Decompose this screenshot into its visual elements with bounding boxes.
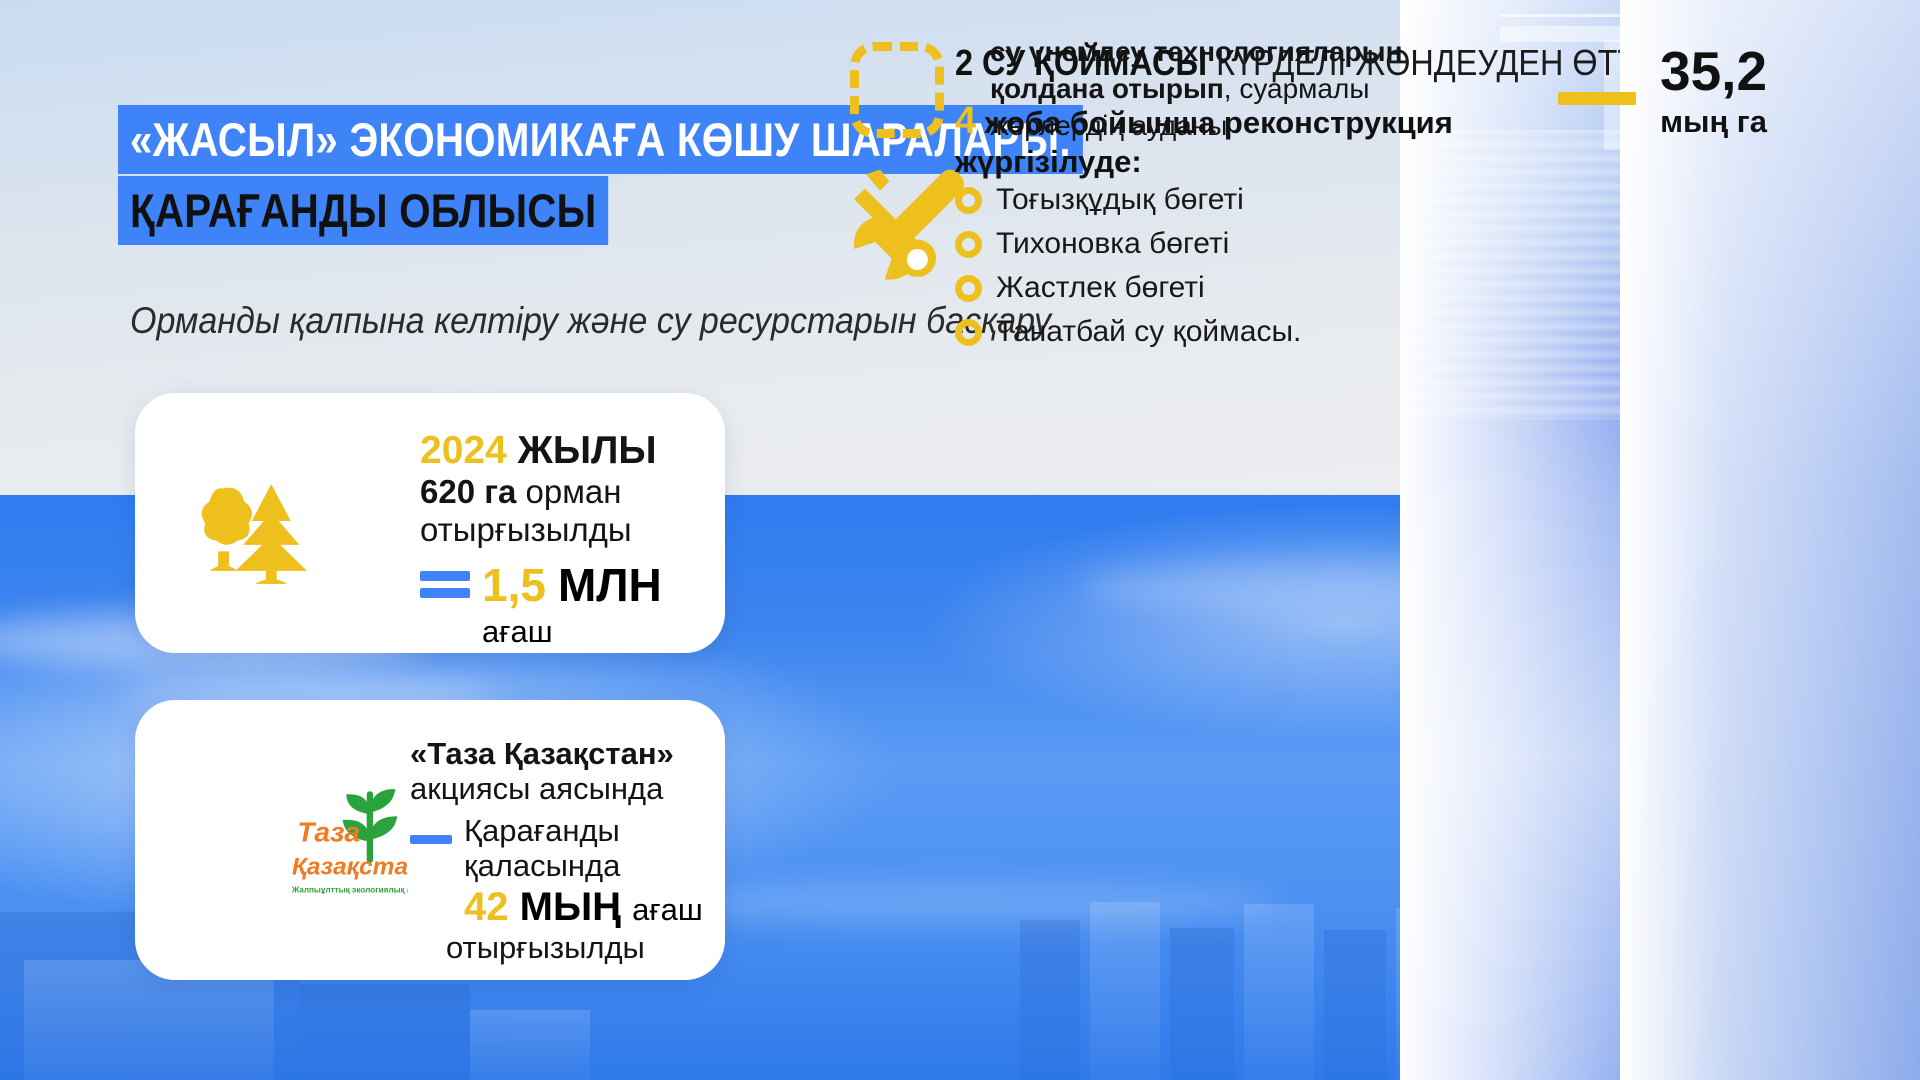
trees-icon (180, 469, 330, 604)
equals-icon (420, 564, 470, 605)
reservoir-subhead-text-2: жүргізілуде: (955, 144, 1026, 179)
taza-planted-label: отырғызылды (446, 930, 720, 965)
forest-area: 620 га (420, 473, 516, 510)
infographic-canvas: «ЖАСЫЛ» ЭКОНОМИКАҒА КӨШУ ШАРАЛАРЫ, ҚАРАҒ… (0, 0, 1920, 1080)
blue-dash-icon (410, 835, 452, 844)
list-item: Тихоновка бөгеті (955, 222, 1026, 266)
bullet-ring-icon (955, 187, 982, 214)
taza-count: 42 (464, 885, 509, 929)
bullet-ring-icon (955, 275, 982, 302)
taza-logo-caption: Жалпыұлттық экологиялық акция (291, 885, 408, 894)
list-item: Жастлек бөгеті (955, 266, 1026, 310)
bullet-ring-icon (955, 231, 982, 258)
reservoir-item-label: Танатбай су қоймасы. (996, 315, 1026, 349)
taza-city-line-2: қаласында (464, 848, 620, 883)
taza-logo-title-1: Таза (297, 817, 360, 848)
taza-logo-title-2: Қазақстан (292, 853, 408, 880)
forest-card-text: 2024 ЖЫЛЫ 620 га орман отырғызылды 1,5 М… (420, 429, 710, 650)
taza-count-unit: МЫҢ (520, 885, 621, 929)
list-item: Тоғызқұдық бөгеті (955, 178, 1026, 222)
forest-year-suffix: ЖЫЛЫ (518, 429, 657, 472)
reservoir-list: Тоғызқұдық бөгеті Тихоновка бөгеті Жастл… (955, 178, 1026, 354)
reservoir-item-label: Тоғызқұдық бөгеті (996, 183, 1026, 217)
reservoir-item-label: Тихоновка бөгеті (996, 227, 1026, 261)
card-taza-qazaqstan: Таза Қазақстан Жалпыұлттық экологиялық а… (135, 700, 725, 980)
taza-line-1: «Таза Қазақстан» (410, 736, 720, 771)
reservoir-project-count: 4 (955, 100, 976, 142)
taza-count-object: ағаш (632, 892, 703, 927)
forest-count-object: ағаш (482, 614, 710, 650)
taza-city-line-1: Қарағанды (464, 813, 620, 848)
reservoir-item-label: Жастлек бөгеті (996, 271, 1026, 305)
forest-count: 1,5 (482, 558, 546, 612)
bullet-ring-icon (955, 319, 982, 346)
page-title-line-2: ҚАРАҒАНДЫ ОБЛЫСЫ (118, 176, 608, 245)
page-subtitle: Орманды қалпына келтіру және су ресурста… (130, 300, 1051, 342)
forest-count-unit: МЛН (558, 558, 662, 612)
list-item: Танатбай су қоймасы. (955, 310, 1026, 354)
taza-line-2: акциясы аясында (410, 771, 720, 806)
card-forest-restoration: 2024 ЖЫЛЫ 620 га орман отырғызылды 1,5 М… (135, 393, 725, 653)
forest-year: 2024 (420, 429, 507, 472)
taza-qazaqstan-logo: Таза Қазақстан Жалпыұлттық экологиялық а… (290, 758, 408, 908)
forest-planted-label: отырғызылды (420, 511, 710, 549)
forest-area-suffix: орман (516, 473, 621, 510)
taza-card-text: «Таза Қазақстан» акциясы аясында Қараған… (410, 736, 720, 966)
